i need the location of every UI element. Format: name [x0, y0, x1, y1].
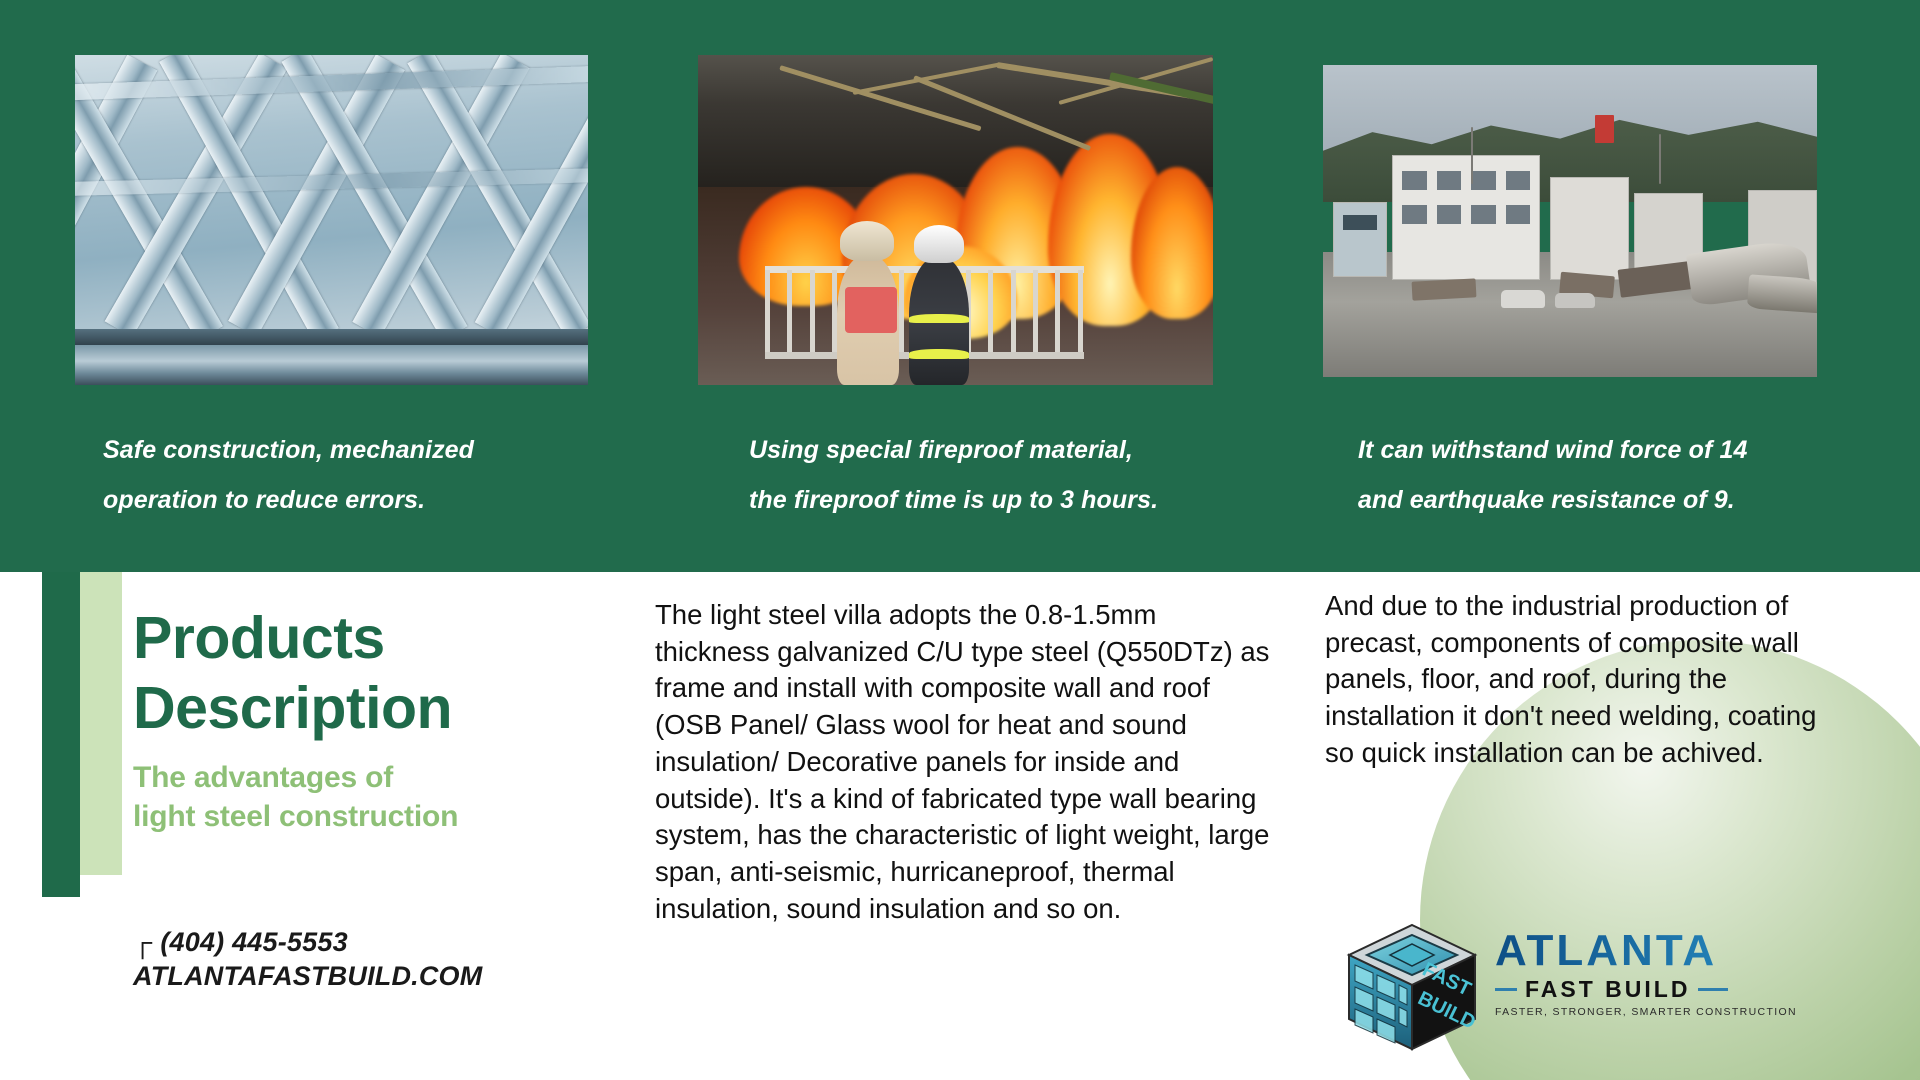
caption-1-line-1: Safe construction, mechanized — [103, 425, 573, 475]
phone-number[interactable]: (404) 445-5553 — [160, 927, 347, 957]
page-subtitle-line-1: The advantages of — [133, 759, 553, 797]
phone-icon: ┌ — [133, 925, 152, 959]
caption-2-line-1: Using special fireproof material, — [749, 425, 1219, 475]
page-subtitle: The advantages of light steel constructi… — [133, 759, 553, 836]
products-description-panel: Products Description The advantages of l… — [0, 572, 1920, 1080]
caption-3-line-2: and earthquake resistance of 9. — [1358, 475, 1828, 525]
caption-safe-construction: Safe construction, mechanized operation … — [103, 425, 573, 525]
logo-rule-left — [1495, 988, 1517, 991]
caption-wind-earthquake: It can withstand wind force of 14 and ea… — [1358, 425, 1828, 525]
logo-subbrand-row: FAST BUILD — [1495, 978, 1865, 1001]
contact-block: ┌(404) 445-5553 ATLANTAFASTBUILD.COM — [133, 925, 593, 993]
photo-steel-truss-frame — [75, 55, 588, 385]
logo-brand-name: ATLANTA — [1495, 929, 1865, 973]
caption-1-line-2: operation to reduce errors. — [103, 475, 573, 525]
photo-row — [0, 55, 1920, 385]
website-url[interactable]: ATLANTAFASTBUILD.COM — [133, 961, 482, 991]
logo-subbrand: FAST BUILD — [1525, 978, 1690, 1001]
photo-earthquake-damage — [1323, 65, 1817, 377]
body-text-right-column: And due to the industrial production of … — [1325, 588, 1850, 772]
caption-fireproof-material: Using special fireproof material, the fi… — [749, 425, 1219, 525]
logo-wordmark: ATLANTA FAST BUILD FASTER, STRONGER, SMA… — [1495, 929, 1865, 1018]
title-block: Products Description The advantages of l… — [133, 604, 553, 836]
page-subtitle-line-2: light steel construction — [133, 798, 553, 836]
page-title-line-1: Products — [133, 604, 553, 674]
phone-line: ┌(404) 445-5553 — [133, 925, 593, 959]
isometric-cube-icon: FAST BUILD — [1345, 923, 1480, 1051]
logo-rule-right — [1698, 988, 1728, 991]
accent-bar-dark — [42, 572, 80, 897]
caption-2-line-2: the fireproof time is up to 3 hours. — [749, 475, 1219, 525]
accent-bar-light — [80, 572, 122, 875]
atlanta-fast-build-logo: FAST BUILD ATLANTA FAST BUILD FASTER, ST… — [1345, 917, 1865, 1057]
hero-green-panel: Safe construction, mechanized operation … — [0, 0, 1920, 572]
logo-tagline: FASTER, STRONGER, SMARTER CONSTRUCTION — [1495, 1006, 1865, 1018]
photo-house-fire — [698, 55, 1213, 385]
body-text-middle-column: The light steel villa adopts the 0.8-1.5… — [655, 597, 1270, 927]
page-title: Products Description — [133, 604, 553, 743]
page-title-line-2: Description — [133, 674, 553, 744]
caption-3-line-1: It can withstand wind force of 14 — [1358, 425, 1828, 475]
